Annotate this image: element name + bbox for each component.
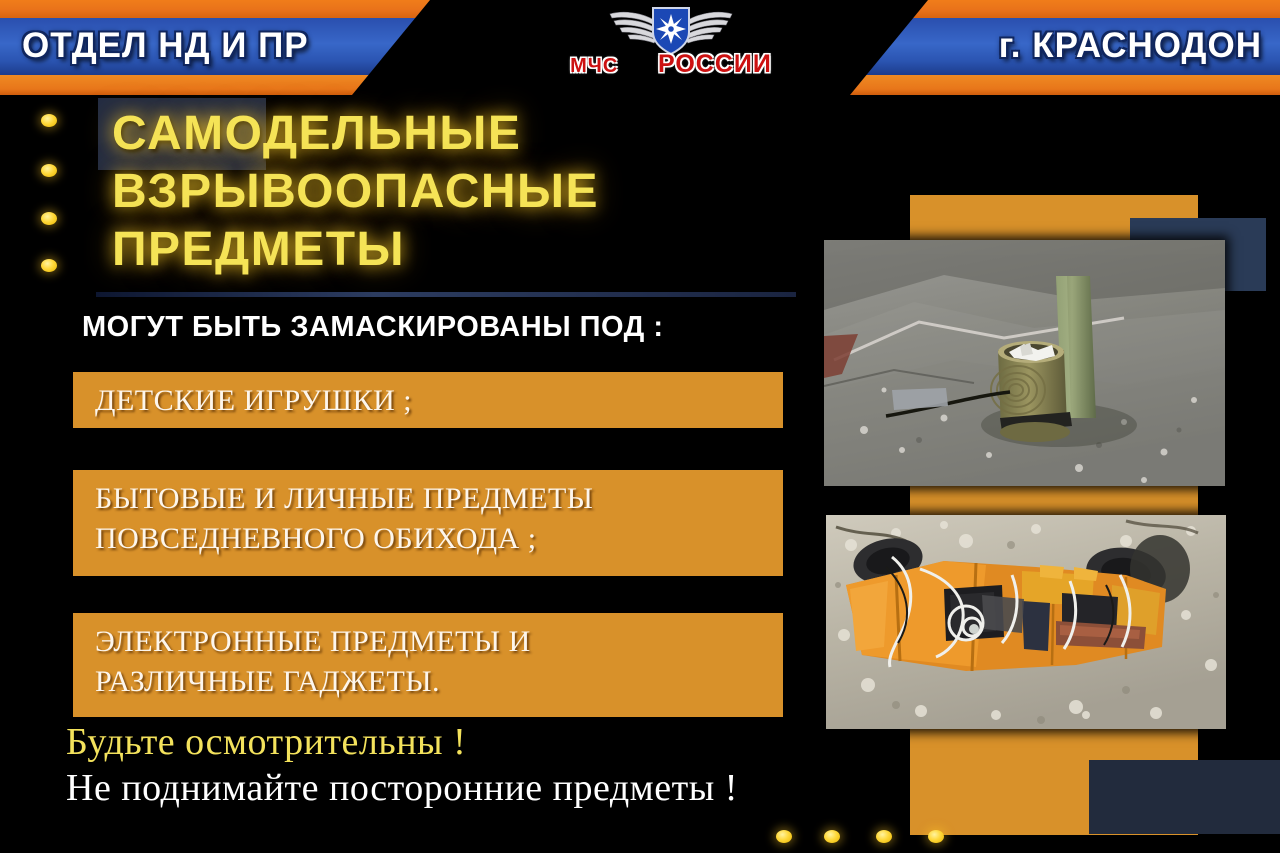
decor-dot-left-4 xyxy=(41,259,57,272)
disguise-item-1-line-1: ДЕТСКИЕ ИГРУШКИ ; xyxy=(95,381,783,421)
title-divider xyxy=(96,292,796,297)
disguise-item-box-2: БЫТОВЫЕ И ЛИЧНЫЕ ПРЕДМЕТЫ ПОВСЕДНЕВНОГО … xyxy=(73,470,783,576)
decor-dot-left-1 xyxy=(41,114,57,127)
subtitle-label: МОГУТ БЫТЬ ЗАМАСКИРОВАНЫ ПОД : xyxy=(82,311,664,344)
warning-line-1: Будьте осмотрительны ! xyxy=(66,720,466,764)
header-stripe-orange-bottom-right xyxy=(850,75,1280,95)
header-city-label: г. КРАСНОДОН xyxy=(999,17,1262,75)
decor-dot-bottom-3 xyxy=(876,830,892,843)
page-title-line-3: ПРЕДМЕТЫ xyxy=(112,221,812,279)
decor-dot-left-2 xyxy=(41,164,57,177)
decor-blue-block-bottom xyxy=(1089,760,1280,834)
poster-header: ОТДЕЛ НД И ПР г. КРАСНОДОН xyxy=(0,0,1280,95)
emblem-caption-russia: РОССИИ xyxy=(658,50,772,78)
photo-bottom-graphic xyxy=(826,515,1226,729)
disguise-item-2-line-1: БЫТОВЫЕ И ЛИЧНЫЕ ПРЕДМЕТЫ xyxy=(95,479,783,519)
warning-line-2: Не поднимайте посторонние предметы ! xyxy=(66,766,738,810)
page-title-line-1: САМОДЕЛЬНЫЕ xyxy=(112,105,812,163)
disguise-item-box-3: ЭЛЕКТРОННЫЕ ПРЕДМЕТЫ И РАЗЛИЧНЫЕ ГАДЖЕТЫ… xyxy=(73,613,783,717)
mchs-emblem: МЧС РОССИИ xyxy=(556,2,786,94)
page-title-line-2: ВЗРЫВООПАСНЫЕ xyxy=(112,163,812,221)
header-department-label: ОТДЕЛ НД И ПР xyxy=(22,17,309,75)
disguise-item-2-line-2: ПОВСЕДНЕВНОГО ОБИХОДА ; xyxy=(95,519,783,559)
poster-slide: ОТДЕЛ НД И ПР г. КРАСНОДОН xyxy=(0,0,1280,853)
header-stripe-orange-bottom xyxy=(0,75,430,95)
header-stripe-orange-top xyxy=(0,0,430,18)
photo-improvised-device-in-toy-car xyxy=(826,515,1226,729)
decor-dot-bottom-2 xyxy=(824,830,840,843)
disguise-item-3-line-2: РАЗЛИЧНЫЕ ГАДЖЕТЫ. xyxy=(95,662,783,702)
header-stripe-orange-top-right xyxy=(850,0,1280,18)
photo-improvised-device-can-with-wire xyxy=(824,240,1225,486)
emblem-caption: МЧС РОССИИ xyxy=(556,50,786,79)
decor-dot-bottom-4 xyxy=(928,830,944,843)
emblem-caption-mchs: МЧС xyxy=(570,55,618,77)
page-title: САМОДЕЛЬНЫЕ ВЗРЫВООПАСНЫЕ ПРЕДМЕТЫ xyxy=(112,105,812,279)
decor-dot-left-3 xyxy=(41,212,57,225)
disguise-item-3-line-1: ЭЛЕКТРОННЫЕ ПРЕДМЕТЫ И xyxy=(95,622,783,662)
disguise-item-box-1: ДЕТСКИЕ ИГРУШКИ ; xyxy=(73,372,783,428)
photo-top-graphic xyxy=(824,240,1225,486)
decor-dot-bottom-1 xyxy=(776,830,792,843)
